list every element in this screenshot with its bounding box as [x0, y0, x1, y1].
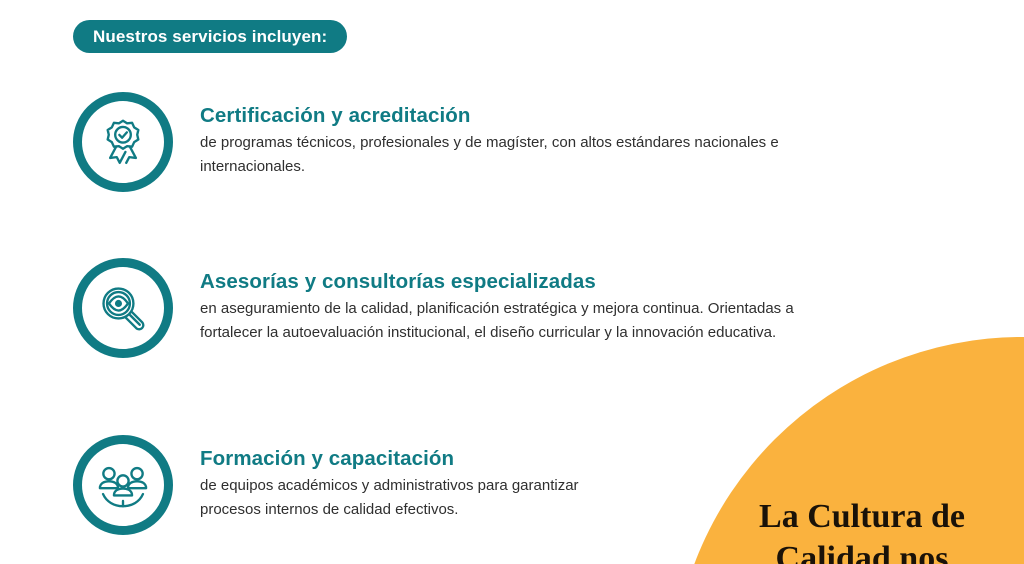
service-title: Formación y capacitación	[200, 446, 630, 471]
section-heading-pill: Nuestros servicios incluyen:	[73, 20, 347, 53]
service-item-training: Formación y capacitación de equipos acad…	[73, 435, 630, 535]
service-description: en aseguramiento de la calidad, planific…	[200, 297, 850, 345]
certification-badge-icon	[73, 92, 173, 192]
people-group-icon	[73, 435, 173, 535]
accent-headline-line-1: La Cultura de	[700, 496, 1024, 538]
section-heading-label: Nuestros servicios incluyen:	[93, 27, 327, 47]
service-text-block: Certificación y acreditación de programa…	[200, 92, 850, 179]
service-item-certification: Certificación y acreditación de programa…	[73, 92, 850, 192]
accent-headline-line-2: Calidad nos	[700, 538, 1024, 564]
service-item-consulting: Asesorías y consultorías especializadas …	[73, 258, 850, 358]
accent-headline: La Cultura de Calidad nos	[700, 496, 1024, 564]
magnifier-eye-icon	[73, 258, 173, 358]
service-text-block: Asesorías y consultorías especializadas …	[200, 258, 850, 345]
service-title: Asesorías y consultorías especializadas	[200, 269, 850, 294]
service-description: de programas técnicos, profesionales y d…	[200, 131, 850, 179]
service-title: Certificación y acreditación	[200, 103, 850, 128]
slide-canvas: La Cultura de Calidad nos Nuestros servi…	[0, 0, 1024, 564]
service-text-block: Formación y capacitación de equipos acad…	[200, 435, 630, 522]
service-description: de equipos académicos y administrativos …	[200, 474, 630, 522]
